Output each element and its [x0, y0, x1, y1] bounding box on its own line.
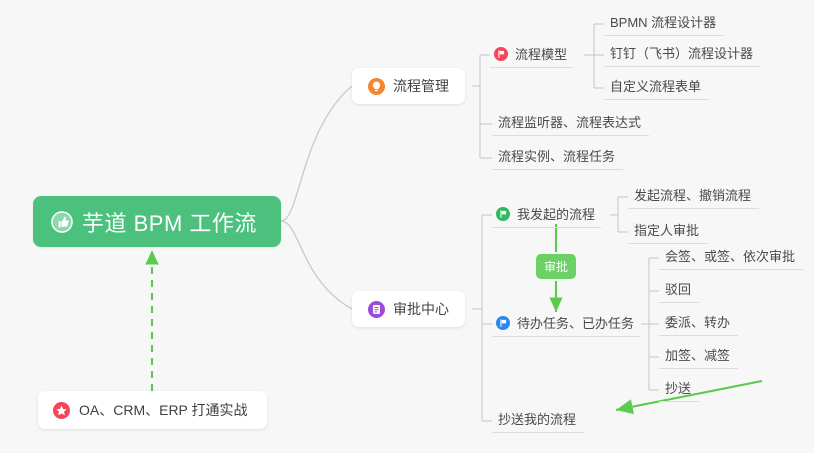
branch-label: 审批中心	[393, 299, 449, 319]
branch-node-process-management[interactable]: 流程管理	[352, 68, 465, 104]
note-card-integration[interactable]: OA、CRM、ERP 打通实战	[38, 391, 267, 429]
root-label: 芋道 BPM 工作流	[82, 206, 257, 238]
leaf-node-add-remove-sign[interactable]: 加签、减签	[659, 345, 738, 369]
leaf-node-custom-form[interactable]: 自定义流程表单	[604, 76, 709, 100]
annotation-chip-label: 审批	[544, 258, 568, 275]
leaf-node-delegate-transfer[interactable]: 委派、转办	[659, 312, 738, 336]
leaf-node-listener-expression[interactable]: 流程监听器、流程表达式	[492, 112, 649, 136]
flag-icon	[496, 207, 510, 221]
leaf-node-dingtalk-designer[interactable]: 钉钉（飞书）流程设计器	[604, 43, 761, 67]
l2-node-my-initiated[interactable]: 我发起的流程	[492, 204, 601, 228]
l2-label: 流程模型	[515, 44, 567, 63]
l2-label: 我发起的流程	[517, 204, 595, 223]
link-root-to-branch-1	[281, 221, 352, 309]
lightbulb-icon	[368, 78, 385, 95]
link-root-to-branch-0	[281, 86, 352, 221]
star-icon	[53, 402, 70, 419]
flag-icon	[496, 316, 510, 330]
note-card-label: OA、CRM、ERP 打通实战	[79, 400, 248, 420]
leaf-node-cc-my-process[interactable]: 抄送我的流程	[492, 409, 584, 433]
flag-icon	[494, 47, 508, 61]
l2-label: 待办任务、已办任务	[517, 313, 634, 332]
leaf-node-bpmn-designer[interactable]: BPMN 流程设计器	[604, 12, 724, 36]
l2-node-process-model[interactable]: 流程模型	[490, 44, 573, 68]
leaf-node-start-cancel-process[interactable]: 发起流程、撤销流程	[628, 185, 759, 209]
root-node[interactable]: 芋道 BPM 工作流	[33, 196, 281, 247]
leaf-node-instance-task[interactable]: 流程实例、流程任务	[492, 146, 623, 170]
leaf-node-cc[interactable]: 抄送	[659, 378, 699, 402]
mindmap-canvas: 芋道 BPM 工作流 流程管理 审批中心	[0, 0, 814, 453]
clipboard-icon	[368, 301, 385, 318]
l2-node-todo-done-tasks[interactable]: 待办任务、已办任务	[492, 313, 640, 337]
annotation-chip-approval[interactable]: 审批	[536, 254, 576, 279]
leaf-node-multi-approval[interactable]: 会签、或签、依次审批	[659, 246, 803, 270]
thumbs-up-icon	[51, 211, 73, 233]
branch-label: 流程管理	[393, 76, 449, 96]
branch-node-approval-center[interactable]: 审批中心	[352, 291, 465, 327]
leaf-node-assignee-approval[interactable]: 指定人审批	[628, 220, 707, 244]
leaf-node-reject[interactable]: 驳回	[659, 279, 699, 303]
